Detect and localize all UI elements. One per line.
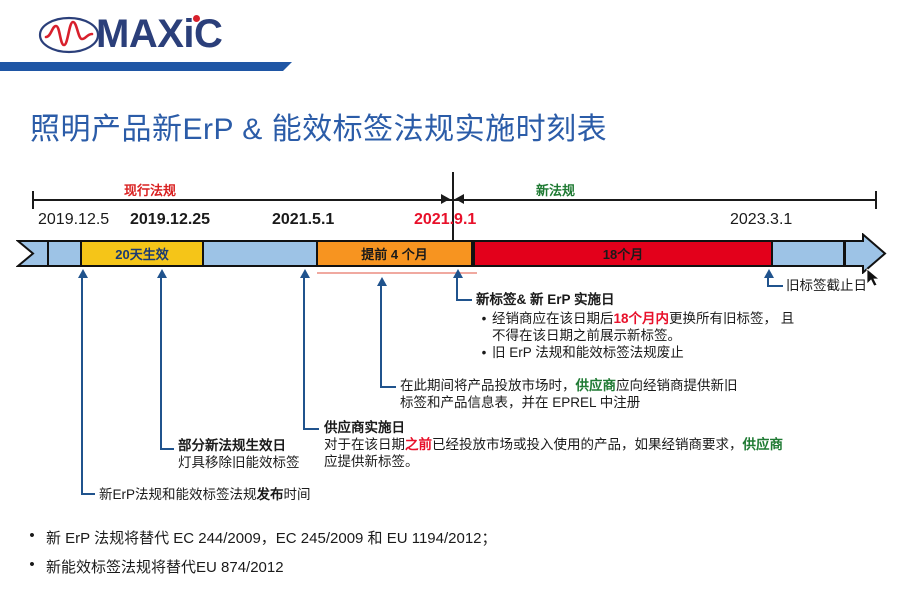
annotation-publish-date: 新ErP法规和能效标签法规发布时间 [99, 486, 311, 503]
axis-right-cap [875, 191, 877, 209]
connector-arrow-market [377, 277, 387, 286]
connector-arrow-supplier [300, 269, 310, 278]
footnote-text-1: 新 ErP 法规将替代 EC 244/2009，EC 245/2009 和 EU… [46, 527, 497, 548]
connector-arrow-partial [157, 269, 167, 278]
era-label-new: 新法规 [536, 180, 575, 199]
market-part-2: 供应商 [576, 378, 617, 393]
segment-20-days-label: 20天生效 [115, 244, 168, 263]
annotation-partial-new-rules: 部分新法规生效日 灯具移除旧能效标签 [178, 437, 300, 471]
supplier-part-1: 对于在该日期 [324, 437, 405, 452]
mouse-cursor-icon [866, 268, 880, 288]
bullet-1-part-3: 更换所有旧标签， 且 [669, 311, 794, 326]
supplier-part-2: 之前 [405, 437, 432, 452]
annotation-partial-heading: 部分新法规生效日 [178, 437, 300, 454]
bullet-1-part-1: 经销商应在该日期后 [492, 311, 614, 326]
annotation-supplier-date: 供应商实施日 对于在该日期之前已经投放市场或投入使用的产品，如果经销商要求，供应… [324, 419, 783, 470]
market-part-1: 在此期间将产品投放市场时， [400, 378, 576, 393]
bullet-dot-icon: • [476, 344, 492, 361]
segment-20-days: 20天生效 [80, 240, 204, 267]
timeline-arrowhead-icon [843, 233, 887, 274]
connector-arrow-endlabel [764, 269, 774, 278]
footnote-text-2: 新能效标签法规将替代EU 874/2012 [46, 556, 284, 577]
supplier-part-3: 已经投放市场或投入使用的产品，如果经销商要求， [432, 437, 743, 452]
market-part-3: 应向经销商提供新旧 [616, 378, 738, 393]
page-title: 照明产品新ErP & 能效标签法规实施时刻表 [30, 104, 607, 148]
bullet-1-line2: 不得在该日期之前展示新标签。 [492, 327, 794, 344]
date-label-2: 2019.12.25 [130, 211, 210, 229]
timeline-chevron-icon [16, 240, 56, 267]
annotation-new-label-erp-heading: 新标签& 新 ErP 实施日 [476, 291, 896, 308]
slide-canvas: MAXiC 照明产品新ErP & 能效标签法规实施时刻表 现行法规 新法规 20… [0, 0, 907, 600]
axis-left-cap [32, 191, 34, 209]
bullet-dot-icon: • [476, 310, 492, 344]
annotation-market-period: 在此期间将产品投放市场时，供应商应向经销商提供新旧 标签和产品信息表，并在 EP… [400, 377, 738, 411]
bullet-2-text: 旧 ErP 法规和能效标签法规废止 [492, 344, 684, 361]
axis-arrow-left [441, 194, 450, 204]
segment-18-months-label: 18个月 [603, 244, 643, 263]
segment-4-months-label: 提前 4 个月 [361, 244, 427, 263]
annotation-partial-line2: 灯具移除旧能效标签 [178, 454, 300, 471]
connector-vline-market [380, 286, 382, 387]
supplier-line2: 应提供新标签。 [324, 453, 783, 470]
header-accent-bar [0, 62, 283, 71]
connector-arrow-newlabel [453, 269, 463, 278]
timeline-bar: 20天生效 提前 4 个月 18个月 [16, 240, 885, 267]
supplier-part-4: 供应商 [743, 437, 784, 452]
date-label-1: 2019.12.5 [38, 211, 109, 229]
connector-vline-publish [81, 278, 83, 494]
connector-hline-newlabel [456, 299, 472, 301]
annotation-bullet: • 旧 ErP 法规和能效标签法规废止 [476, 344, 896, 361]
annotation-new-label-erp: 新标签& 新 ErP 实施日 • 经销商应在该日期后18个月内更换所有旧标签， … [476, 291, 896, 361]
connector-hline-market [380, 386, 396, 388]
connector-hline-publish [81, 493, 95, 495]
waveform-ellipse-icon [38, 12, 100, 56]
segment-4-months-ahead: 提前 4 个月 [316, 240, 473, 267]
bullet-dot-icon: • [18, 556, 46, 577]
connector-vline-newlabel [456, 278, 458, 300]
annotation-bullet: • 经销商应在该日期后18个月内更换所有旧标签， 且 不得在该日期之前展示新标签… [476, 310, 896, 344]
date-label-5: 2023.3.1 [730, 211, 792, 229]
publish-part-1: 新ErP法规和能效标签法规 [99, 487, 257, 502]
date-label-4: 2021.9.1 [414, 211, 476, 229]
footnote-row: • 新 ErP 法规将替代 EC 244/2009，EC 245/2009 和 … [18, 527, 497, 548]
connector-vline-partial [160, 278, 162, 449]
connector-hline-endlabel [767, 285, 783, 287]
annotation-supplier-heading: 供应商实施日 [324, 419, 783, 436]
segment-18-months: 18个月 [473, 240, 773, 267]
era-divider-line [452, 172, 454, 244]
era-label-current: 现行法规 [124, 180, 176, 199]
connector-hline-supplier [303, 428, 319, 430]
brand-logo: MAXiC [38, 12, 222, 56]
bullet-1-part-2: 18个月内 [614, 311, 670, 326]
axis-arrow-right [455, 194, 464, 204]
publish-part-2: 发布 [257, 487, 284, 502]
market-line2: 标签和产品信息表，并在 EPREL 中注册 [400, 394, 738, 411]
footnote-row: • 新能效标签法规将替代EU 874/2012 [18, 556, 284, 577]
connector-vline-supplier [303, 278, 305, 429]
publish-part-3: 时间 [284, 487, 311, 502]
date-label-3: 2021.5.1 [272, 211, 334, 229]
connector-arrow-publish [78, 269, 88, 278]
connector-hline-partial [160, 448, 174, 450]
brand-wordmark: MAXiC [96, 12, 222, 56]
bullet-dot-icon: • [18, 527, 46, 548]
logo-dot-icon [193, 15, 200, 22]
